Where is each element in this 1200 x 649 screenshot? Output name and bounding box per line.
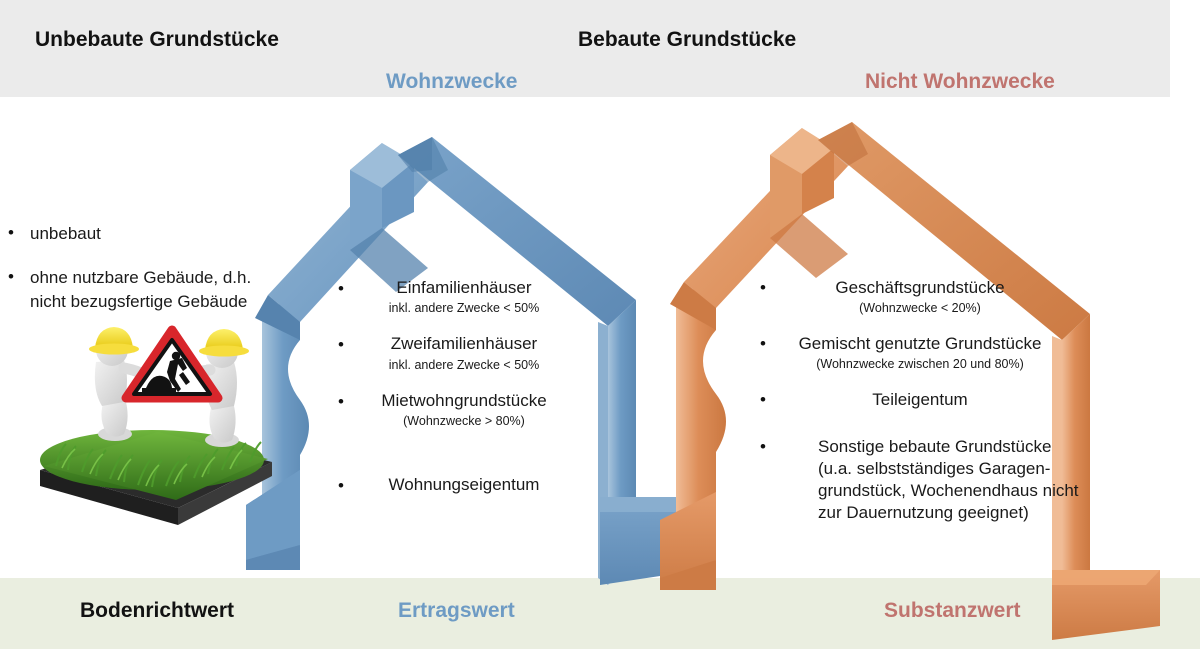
list-item-label: Gemischt genutzte Grundstücke — [760, 333, 1080, 355]
list-item-label: Einfamilienhäuser — [338, 278, 590, 298]
list-item: • unbebaut — [8, 222, 283, 247]
bullet-icon: • — [8, 266, 30, 289]
header-wohnzwecke: Wohnzwecke — [386, 70, 517, 94]
list-item-note: (Wohnzwecke < 20%) — [760, 301, 1080, 316]
list-item-label: Mietwohngrundstücke — [338, 391, 590, 411]
list-item-label: Sonstige bebaute Grundstücke (u.a. selbs… — [760, 436, 1080, 523]
bullet-icon: • — [338, 392, 344, 412]
footer-bodenrichtwert: Bodenrichtwert — [80, 599, 234, 623]
list-item: • Teileigentum — [760, 389, 1080, 411]
bullet-icon: • — [760, 334, 766, 354]
column-nicht-wohnzwecke-list: • Geschäftsgrundstücke (Wohnzwecke < 20%… — [760, 277, 1080, 540]
list-item-note: (Wohnzwecke > 80%) — [338, 414, 590, 429]
bullet-icon: • — [760, 390, 766, 410]
footer-ertragswert: Ertragswert — [398, 599, 515, 623]
list-item-note: inkl. andere Zwecke < 50% — [338, 358, 590, 373]
list-item: • Geschäftsgrundstücke (Wohnzwecke < 20%… — [760, 277, 1080, 316]
list-item-note: inkl. andere Zwecke < 50% — [338, 301, 590, 316]
diagram-canvas: Unbebaute Grundstücke Bebaute Grundstück… — [0, 0, 1200, 649]
list-item: • Gemischt genutzte Grundstücke (Wohnzwe… — [760, 333, 1080, 372]
bullet-icon: • — [338, 476, 344, 496]
list-item: • Wohnungseigentum — [338, 475, 590, 495]
header-bebaute-grundstuecke: Bebaute Grundstücke — [578, 28, 796, 52]
roadworks-sign-icon — [126, 330, 218, 398]
header-nicht-wohnzwecke: Nicht Wohnzwecke — [865, 70, 1055, 94]
footer-substanzwert: Substanzwert — [884, 599, 1021, 623]
worker-left — [89, 327, 156, 441]
bullet-icon: • — [338, 279, 344, 299]
column-wohnzwecke-list: • Einfamilienhäuser inkl. andere Zwecke … — [338, 278, 590, 514]
bullet-icon: • — [338, 335, 344, 355]
bullet-icon: • — [760, 278, 766, 298]
bullet-icon: • — [8, 222, 30, 245]
list-item: • Einfamilienhäuser inkl. andere Zwecke … — [338, 278, 590, 316]
worker-right — [178, 329, 249, 447]
column-unbebaute-list: • unbebaut • ohne nutzbare Gebäude, d.h.… — [8, 222, 283, 334]
header-unbebaute-grundstuecke: Unbebaute Grundstücke — [35, 28, 279, 52]
list-item-label: Geschäftsgrundstücke — [760, 277, 1080, 299]
list-item-label: Teileigentum — [760, 389, 1080, 411]
list-item: • ohne nutzbare Gebäude, d.h. nicht bezu… — [8, 266, 283, 315]
list-item: • Mietwohngrundstücke (Wohnzwecke > 80%) — [338, 391, 590, 429]
list-item-label: Wohnungseigentum — [338, 475, 590, 495]
construction-workers-clipart — [40, 327, 272, 525]
list-item-note: (Wohnzwecke zwischen 20 und 80%) — [760, 357, 1080, 372]
list-item: • Zweifamilienhäuser inkl. andere Zwecke… — [338, 334, 590, 372]
bullet-icon: • — [760, 437, 766, 457]
list-item-label: ohne nutzbare Gebäude, d.h. nicht bezugs… — [30, 266, 283, 315]
list-item-label: Zweifamilienhäuser — [338, 334, 590, 354]
list-item: • Sonstige bebaute Grundstücke (u.a. sel… — [760, 436, 1080, 523]
list-item-label: unbebaut — [30, 222, 101, 247]
